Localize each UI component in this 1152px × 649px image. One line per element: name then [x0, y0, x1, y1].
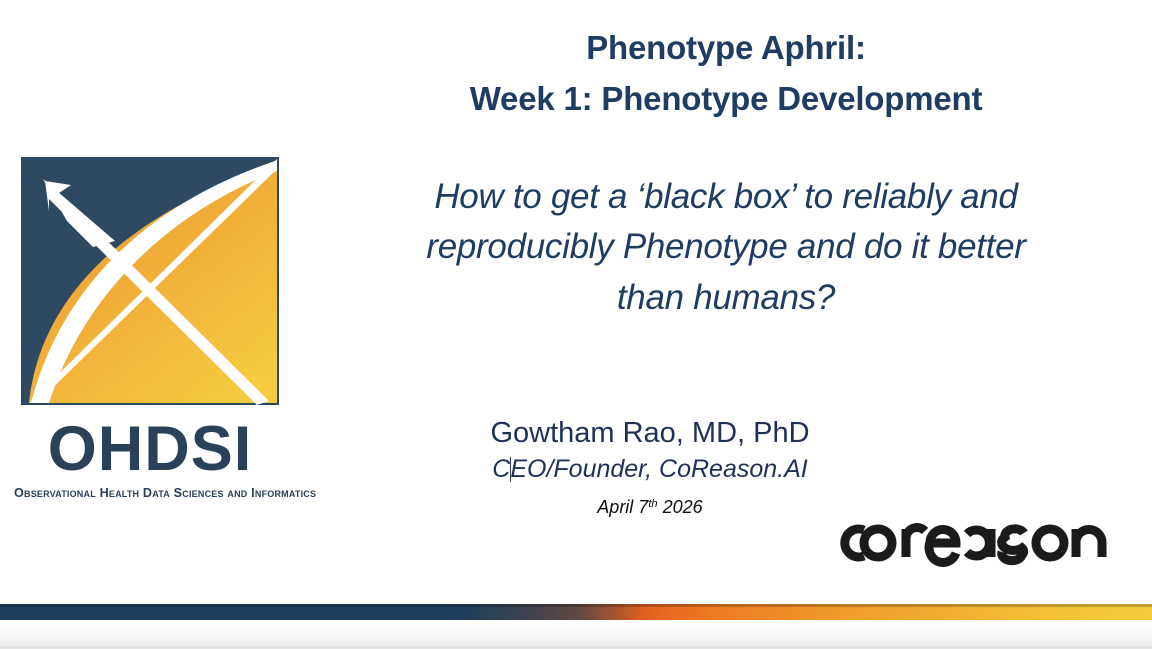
- presenter-role-text-before-caret: C: [492, 455, 510, 483]
- title-slide: OHDSI Observational Health Data Sciences…: [0, 0, 1152, 649]
- presenter-role-text-after-caret: EO/Founder, CoReason.AI: [510, 455, 807, 483]
- ohdsi-logo-mark: [19, 155, 281, 407]
- footer-shadow-strip: [0, 622, 1152, 649]
- question-line-1: How to get a ‘black box’ to reliably and: [300, 172, 1152, 222]
- presenter-role[interactable]: CEO/Founder, CoReason.AI: [300, 452, 1000, 488]
- slide-subtitle-question: How to get a ‘black box’ to reliably and…: [300, 172, 1152, 323]
- footer-gradient-bar: [0, 604, 1152, 620]
- date-ordinal-suffix: th: [648, 498, 657, 510]
- question-line-2: reproducibly Phenotype and do it better: [300, 222, 1152, 272]
- ohdsi-tagline: Observational Health Data Sciences and I…: [14, 486, 286, 500]
- title-line-2: Week 1: Phenotype Development: [300, 73, 1152, 124]
- date-year: 2026: [658, 497, 703, 517]
- title-line-1: Phenotype Aphril:: [300, 22, 1152, 73]
- presenter-name: Gowtham Rao, MD, PhD: [300, 414, 1000, 452]
- question-line-3: than humans?: [300, 273, 1152, 323]
- date-month-day: April 7: [597, 497, 648, 517]
- coreason-logo: [826, 512, 1116, 568]
- ohdsi-logo: OHDSI Observational Health Data Sciences…: [14, 155, 286, 505]
- slide-title: Phenotype Aphril: Week 1: Phenotype Deve…: [300, 22, 1152, 124]
- presenter-credit: Gowtham Rao, MD, PhD CEO/Founder, CoReas…: [300, 414, 1000, 521]
- ohdsi-wordmark: OHDSI: [14, 418, 286, 481]
